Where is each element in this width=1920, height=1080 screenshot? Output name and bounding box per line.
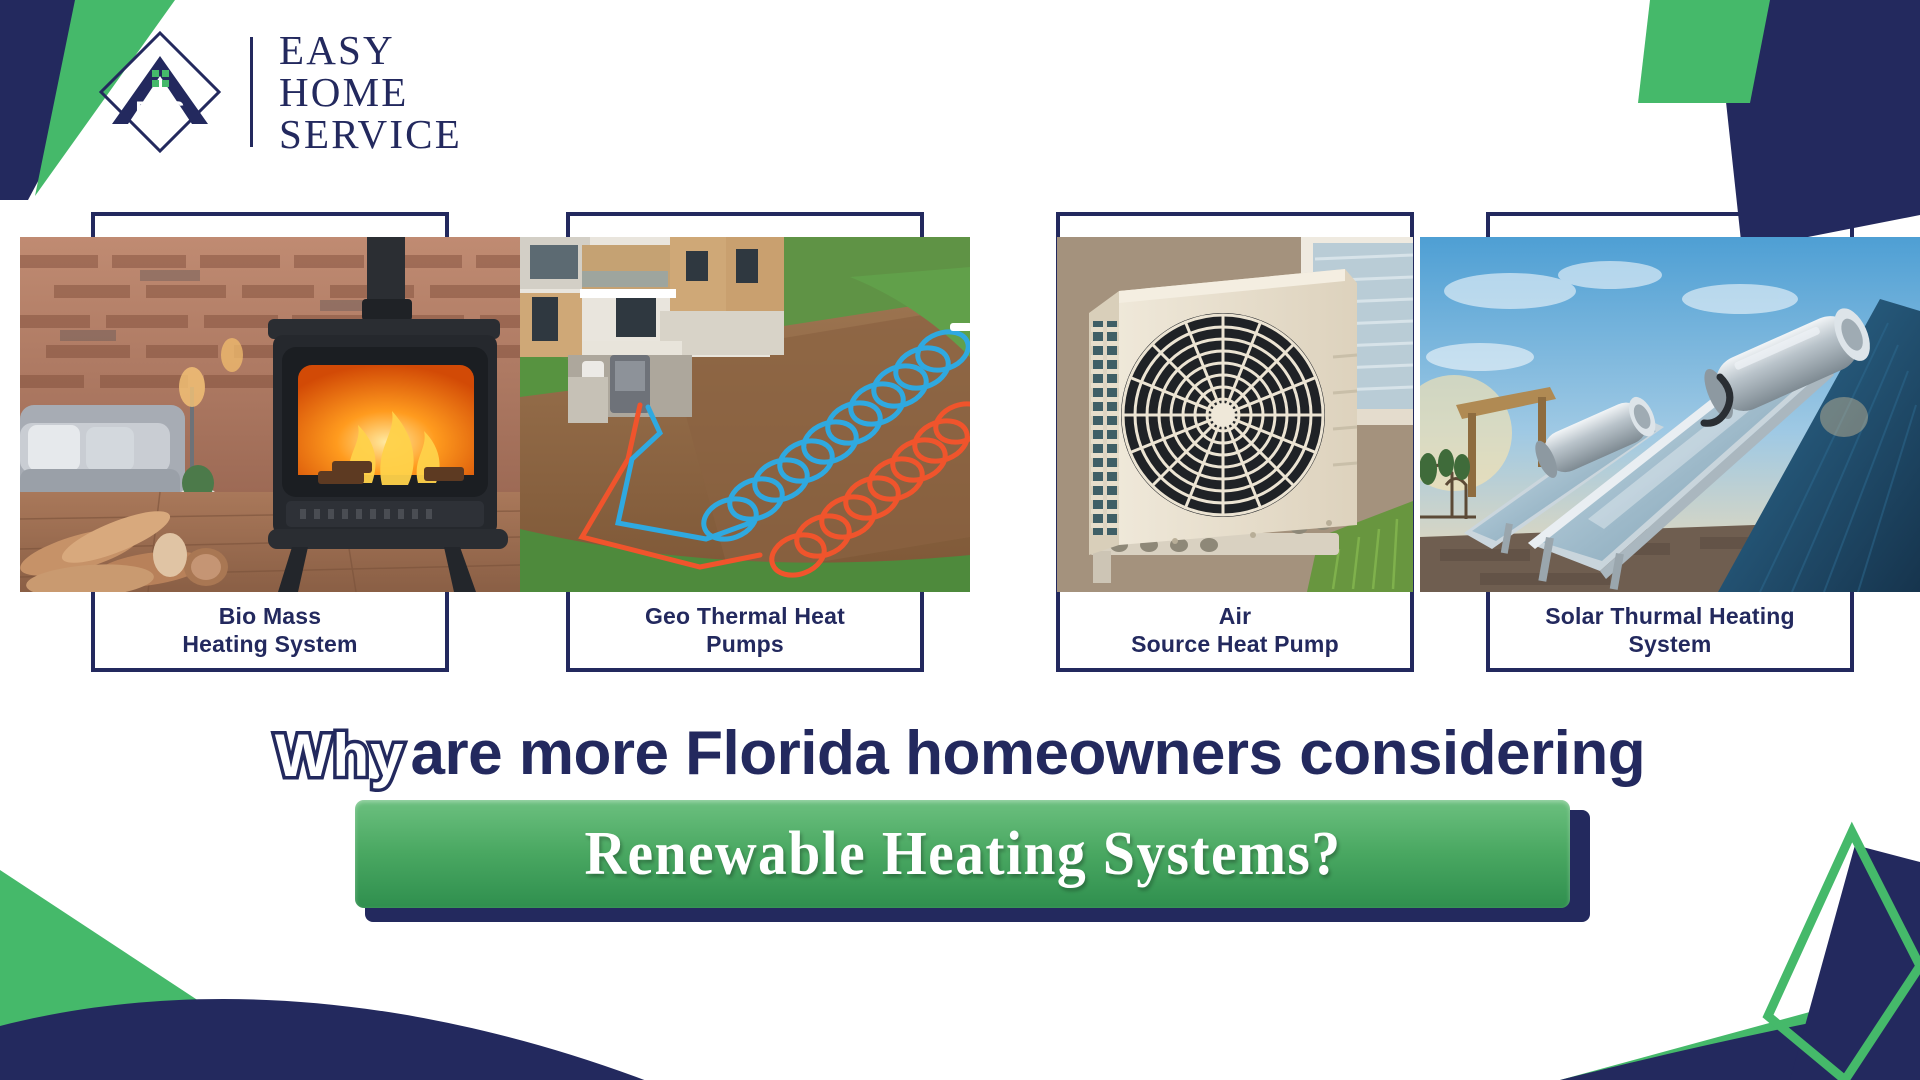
- ehs-diamond-house-logo-icon[interactable]: EHS: [96, 28, 224, 156]
- page-headline: Whyare more Florida homeowners consideri…: [0, 718, 1920, 789]
- headline-rest: are more Florida homeowners considering: [411, 719, 1646, 788]
- logo-divider: [250, 37, 253, 147]
- wood-burning-stove-photo: [20, 237, 520, 592]
- renewable-heating-banner: Renewable Heating Systems?: [355, 800, 1580, 918]
- card-bio-mass[interactable]: Bio Mass Heating System: [20, 212, 520, 672]
- solar-thermal-collector-photo: [1420, 237, 1920, 592]
- card-solar-thermal[interactable]: Solar Thurmal Heating System: [1420, 212, 1920, 672]
- card-label: Air Source Heat Pump: [1069, 602, 1400, 658]
- card-label: Solar Thurmal Heating System: [1440, 602, 1900, 658]
- brand-wordmark: EASY HOME SERVICE: [279, 29, 462, 156]
- banner-text: Renewable Heating Systems?: [584, 819, 1341, 890]
- air-source-heat-pump-photo: [1057, 237, 1413, 592]
- card-label: Bio Mass Heating System: [40, 602, 500, 658]
- logo-monogram: EHS: [135, 97, 184, 124]
- headline-highlight-word: Why: [275, 721, 405, 790]
- card-air-source[interactable]: Air Source Heat Pump: [1055, 212, 1415, 672]
- card-geo-thermal[interactable]: Geo Thermal Heat Pumps: [520, 212, 970, 672]
- geothermal-loop-trench-photo: [520, 237, 970, 592]
- brand-header: EHS EASY HOME SERVICE: [96, 28, 462, 156]
- card-label: Geo Thermal Heat Pumps: [538, 602, 952, 658]
- banner-body: Renewable Heating Systems?: [355, 800, 1570, 908]
- heating-systems-card-row: Bio Mass Heating System: [0, 212, 1920, 672]
